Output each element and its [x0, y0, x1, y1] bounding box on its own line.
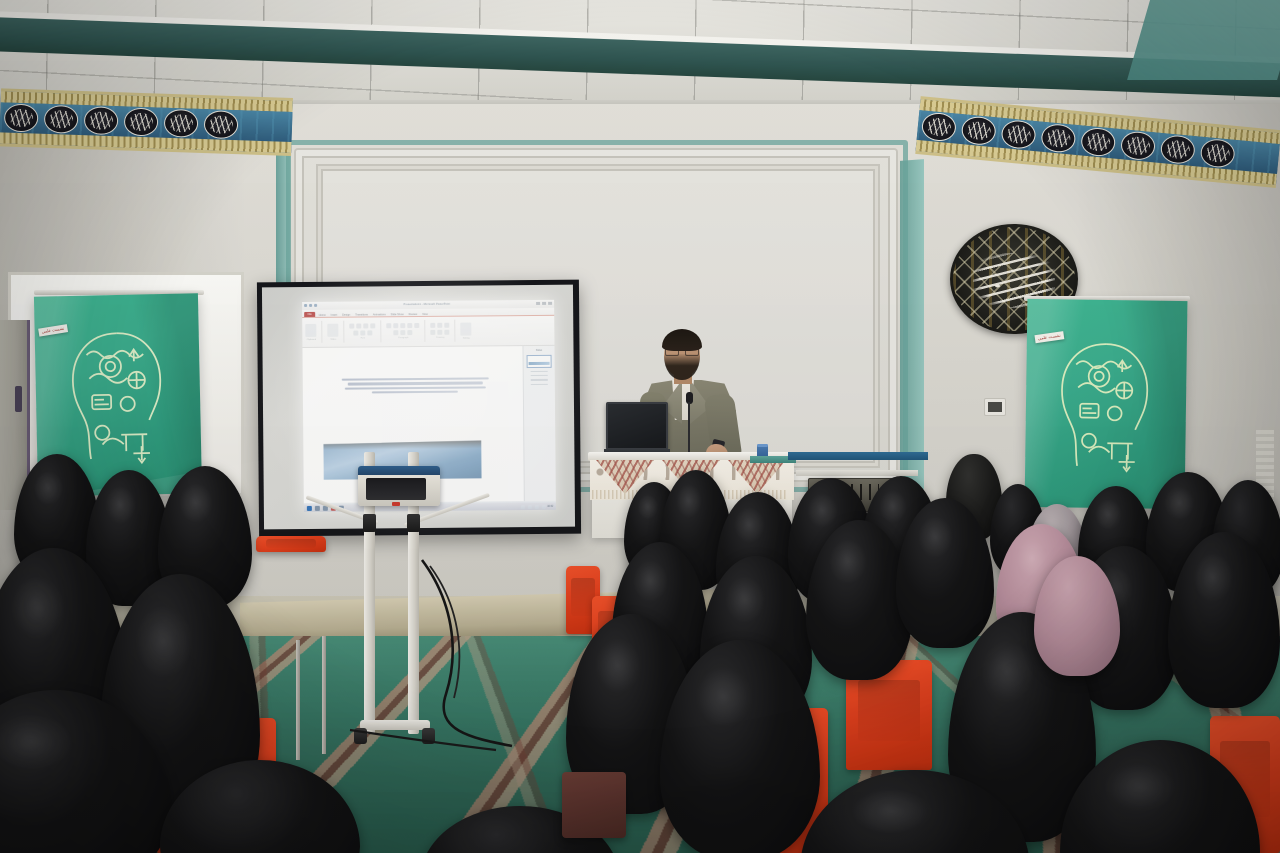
paragraph-row[interactable]	[387, 323, 420, 328]
font-row[interactable]	[350, 323, 376, 328]
frieze-medallion-icon	[164, 109, 199, 138]
ribbon-group-label: Font	[361, 337, 365, 339]
ribbon-group-paragraph[interactable]: Paragraph	[387, 323, 420, 339]
fabric-highlight	[676, 484, 702, 518]
tab-transitions[interactable]: Transitions	[354, 313, 369, 316]
fabric-highlight	[734, 507, 764, 543]
browser-icon[interactable]	[315, 505, 320, 510]
frieze-medallion-icon	[84, 106, 119, 135]
fabric-highlight	[1164, 486, 1194, 520]
microphone-stem	[688, 402, 690, 454]
projector	[358, 466, 440, 506]
window-controls[interactable]	[536, 302, 552, 305]
text-direction-icon[interactable]	[408, 330, 413, 335]
fabric-highlight	[918, 516, 953, 558]
fabric-highlight	[637, 494, 659, 521]
tab-home[interactable]: Home	[318, 313, 327, 316]
fabric-highlight	[851, 789, 934, 834]
fabric-highlight	[1095, 499, 1122, 530]
presenter-beard	[664, 354, 700, 380]
fabric-highlight	[807, 493, 838, 528]
ribbon[interactable]: Clipboard Slides	[303, 315, 555, 347]
head-profile-art-icon	[57, 312, 179, 482]
fabric-highlight	[33, 470, 64, 506]
shape-outline-icon[interactable]	[438, 330, 443, 335]
fabric-highlight	[105, 486, 136, 524]
head-profile-art-icon	[1047, 318, 1165, 494]
new-slide-icon[interactable]	[328, 323, 339, 336]
frieze-medallion-icon	[960, 115, 996, 146]
tab-design[interactable]: Design	[341, 313, 351, 316]
fabric-highlight	[135, 605, 193, 678]
frieze-medallion-icon	[124, 107, 159, 136]
font-row[interactable]	[353, 330, 372, 335]
paragraph-row[interactable]	[394, 330, 413, 335]
lecture-hall-photo: نشست علمی نشس	[0, 0, 1280, 853]
tab-slideshow[interactable]: Slide Show	[390, 313, 405, 316]
frieze-medallion-icon	[44, 105, 79, 134]
fabric-highlight	[1016, 540, 1048, 577]
fabric-highlight	[695, 666, 753, 728]
shape-rect-icon[interactable]	[431, 323, 436, 328]
close-icon[interactable]	[548, 302, 552, 305]
tab-animations[interactable]: Animations	[372, 313, 387, 316]
frieze-medallion-icon	[921, 111, 957, 142]
cabinet-handle-icon	[15, 386, 22, 412]
ribbon-divider	[425, 320, 426, 342]
maximize-icon[interactable]	[542, 302, 546, 305]
fabric-highlight	[179, 483, 213, 523]
switch-icon	[988, 402, 1002, 412]
fabric-highlight	[879, 490, 907, 523]
shape-circle-icon[interactable]	[438, 323, 443, 328]
ribbon-divider	[455, 320, 456, 342]
tab-view[interactable]: View	[421, 312, 429, 315]
redo-icon[interactable]	[315, 304, 318, 307]
ribbon-group-label: Editing	[463, 337, 470, 339]
projector-power-led-icon	[392, 502, 400, 506]
thumbnail-placeholder	[530, 375, 548, 377]
slide-text-line	[341, 377, 488, 380]
fabric-highlight	[633, 560, 668, 602]
fabric-highlight	[725, 576, 765, 623]
drawing-row[interactable]	[431, 330, 450, 335]
shape-arrow-icon[interactable]	[445, 323, 450, 328]
slide-text-line	[344, 386, 485, 389]
frieze-medallion-icon	[1000, 119, 1036, 150]
presenter-hair	[662, 329, 702, 351]
frieze-medallion-icon	[1120, 130, 1156, 161]
ribbon-divider	[344, 321, 345, 343]
ribbon-group-label: Paragraph	[398, 337, 408, 339]
stand-clamp-right[interactable]	[407, 514, 420, 532]
slide-thumbnail-current[interactable]	[526, 354, 551, 367]
ribbon-group-clipboard[interactable]: Clipboard	[306, 323, 317, 340]
frieze-medallion-icon	[1199, 138, 1235, 169]
frieze-medallion-icon	[1080, 126, 1116, 157]
ribbon-group-label: Clipboard	[307, 338, 316, 340]
paste-icon[interactable]	[306, 323, 317, 336]
align-center-icon[interactable]	[408, 323, 413, 328]
clear-format-icon[interactable]	[367, 330, 372, 335]
fabric-highlight	[1104, 762, 1176, 812]
shape-effects-icon[interactable]	[445, 330, 450, 335]
thumbnail-placeholder	[530, 370, 548, 372]
thumbnail-placeholder	[530, 379, 548, 381]
fabric-highlight	[11, 576, 65, 640]
power-cables	[400, 560, 580, 760]
ribbon-group-slides[interactable]: Slides	[328, 323, 339, 340]
tab-insert[interactable]: Insert	[330, 313, 339, 316]
chair[interactable]	[256, 536, 326, 552]
save-icon[interactable]	[305, 304, 308, 307]
frieze-band-left	[0, 102, 292, 142]
frieze-medallion-icon	[1160, 134, 1196, 165]
fabric-highlight	[595, 638, 642, 694]
slide-thumbnail-pane[interactable]: Slides	[522, 345, 556, 503]
ribbon-group-label: Drawing	[436, 337, 444, 339]
chair-leg	[322, 636, 326, 754]
columns-icon[interactable]	[401, 330, 406, 335]
window-title: Presentation1 - Microsoft PowerPoint	[404, 303, 451, 306]
align-right-icon[interactable]	[415, 323, 420, 328]
slide-body-text[interactable]	[338, 377, 492, 394]
wall-blue-band	[788, 452, 928, 460]
thumbnail-image-icon	[529, 361, 550, 364]
strikethrough-icon[interactable]	[371, 323, 376, 328]
tab-review[interactable]: Review	[408, 313, 419, 316]
shape-fill-icon[interactable]	[431, 330, 436, 335]
chair-leg	[296, 640, 300, 760]
bullets-icon[interactable]	[387, 323, 392, 328]
handbag	[562, 772, 626, 838]
slide-text-line	[372, 391, 458, 394]
drawing-row[interactable]	[431, 323, 450, 328]
frieze-medallion-icon	[204, 110, 239, 139]
minimize-icon[interactable]	[536, 302, 540, 305]
ribbon-group-font[interactable]: Font	[350, 323, 376, 339]
thumbnail-placeholder	[530, 384, 548, 386]
font-size-icon[interactable]	[353, 331, 358, 336]
bold-icon[interactable]	[350, 324, 355, 329]
calligraphy-frieze-left	[0, 88, 293, 156]
quick-access-toolbar[interactable]	[305, 304, 318, 307]
laptop-screen	[606, 402, 668, 450]
ribbon-group-label: Slides	[330, 338, 336, 340]
fabric-highlight	[981, 640, 1034, 704]
tab-file[interactable]: File	[305, 311, 315, 316]
underline-icon[interactable]	[364, 323, 369, 328]
projector-lens-icon	[366, 478, 426, 500]
banner-right: نشست علمی	[1025, 299, 1188, 509]
ceiling-corner-panel	[1127, 0, 1280, 80]
wall-switch-plate[interactable]	[984, 398, 1006, 416]
numbering-icon[interactable]	[394, 323, 399, 328]
taskbar-clock[interactable]: 10:42	[547, 504, 553, 507]
find-icon[interactable]	[461, 322, 472, 335]
undo-icon[interactable]	[310, 304, 313, 307]
start-icon[interactable]	[307, 505, 312, 510]
line-spacing-icon[interactable]	[394, 330, 399, 335]
stand-clamp-left[interactable]	[363, 514, 376, 532]
italic-icon[interactable]	[357, 324, 362, 329]
fabric-highlight	[0, 714, 73, 770]
frieze-medallion-icon	[1040, 123, 1076, 154]
slide-text-line	[347, 382, 482, 385]
fabric-highlight	[829, 539, 867, 584]
fabric-highlight	[1193, 553, 1233, 602]
align-left-icon[interactable]	[401, 323, 406, 328]
font-color-icon[interactable]	[360, 330, 365, 335]
ribbon-divider	[322, 321, 323, 343]
frieze-medallion-icon	[4, 103, 39, 132]
ribbon-divider	[381, 320, 382, 342]
thumbnail-pane-label: Slides	[536, 348, 543, 351]
projector-top-stripe	[358, 466, 440, 475]
ribbon-group-editing[interactable]: Editing	[461, 322, 472, 339]
microphone	[686, 392, 692, 454]
ribbon-group-drawing[interactable]: Drawing	[431, 323, 450, 339]
